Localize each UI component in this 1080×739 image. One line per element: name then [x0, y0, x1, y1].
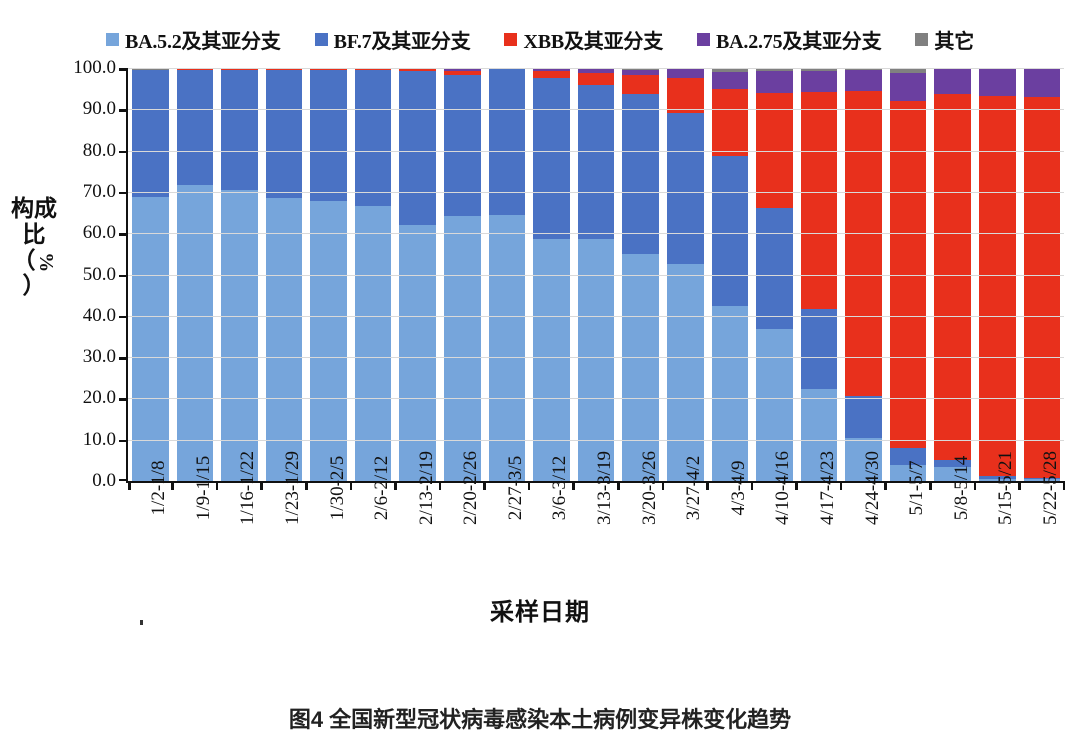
bar-segment	[399, 71, 436, 225]
y-axis-tick-label: 90.0	[83, 98, 116, 120]
bar-segment	[845, 91, 882, 397]
x-axis-tick-label: 2/20-2/26	[460, 451, 482, 525]
x-axis-tick-cell: 5/1-5/7	[884, 486, 929, 594]
bar-segment	[533, 78, 570, 239]
y-axis-tick-mark	[119, 398, 128, 401]
x-axis-tick-cell: 4/3-4/9	[706, 486, 751, 594]
bar-segment	[622, 94, 659, 253]
bar-segment	[444, 216, 481, 481]
bar-segment	[132, 70, 169, 196]
x-axis-tick-label: 3/27-4/2	[683, 456, 705, 520]
x-axis-tick-label: 4/10-4/16	[772, 451, 794, 525]
gridline	[128, 109, 1064, 110]
bar-segment	[132, 197, 169, 481]
gridline	[128, 398, 1064, 399]
y-axis-tick-mark	[119, 151, 128, 154]
x-axis-tick-label: 4/17-4/23	[817, 451, 839, 525]
bar-segment	[578, 85, 615, 239]
x-axis-tick-label: 2/27-3/5	[505, 456, 527, 520]
x-axis-tick-cell: 5/8-5/14	[928, 486, 973, 594]
gridline	[128, 68, 1064, 69]
x-axis-tick-cell: 3/6-3/12	[527, 486, 572, 594]
bar-segment	[667, 113, 704, 263]
y-axis-tick-mark	[119, 440, 128, 443]
bar-segment	[667, 78, 704, 114]
x-axis-tick-cell: 2/27-3/5	[483, 486, 528, 594]
bar-segment	[667, 69, 704, 77]
x-axis-tick-cell: 2/20-2/26	[438, 486, 483, 594]
bar-segment	[756, 71, 793, 92]
gridline	[128, 275, 1064, 276]
y-axis-tick-mark	[119, 357, 128, 360]
y-axis-tick-mark	[119, 109, 128, 112]
x-axis-tick-label: 2/13-2/19	[416, 451, 438, 525]
bar-segment	[801, 92, 838, 309]
x-axis-tick-label: 5/8-5/14	[951, 456, 973, 520]
bar-segment	[622, 254, 659, 481]
x-axis-tick-label: 5/15-5/21	[995, 451, 1017, 525]
y-axis-tick-label: 80.0	[83, 140, 116, 162]
bar-segment	[533, 239, 570, 481]
bar-segment	[355, 70, 392, 205]
x-axis-tick-label: 1/16-1/22	[237, 451, 259, 525]
plot-canvas	[126, 68, 1064, 483]
gridline	[128, 151, 1064, 152]
bar-segment	[667, 264, 704, 481]
x-axis-tick-cell: 3/20-3/26	[616, 486, 661, 594]
x-axis-tick-cell: 1/23-1/29	[260, 486, 305, 594]
bar-segment	[266, 70, 303, 198]
y-axis-tick-label: 100.0	[73, 57, 116, 79]
x-axis-tick-cell: 5/15-5/21	[973, 486, 1018, 594]
bar-segment	[310, 70, 347, 201]
x-axis-tick-label: 3/6-3/12	[549, 456, 571, 520]
x-axis-tick-label: 1/30-2/5	[327, 456, 349, 520]
y-axis-tick-label: 20.0	[83, 387, 116, 409]
y-axis-tick-label: 50.0	[83, 264, 116, 286]
bar-segment	[489, 215, 526, 481]
y-axis-tick-label: 40.0	[83, 305, 116, 327]
x-axis-tick-labels: 1/2-1/81/9-1/151/16-1/221/23-1/291/30-2/…	[126, 486, 1062, 594]
x-axis-tick-cell: 3/27-4/2	[661, 486, 706, 594]
x-axis-tick-label: 3/13-3/19	[594, 451, 616, 525]
x-axis-tick-cell: 4/24-4/30	[839, 486, 884, 594]
y-axis-tick-label: 0.0	[92, 470, 116, 492]
chart-plot-area: 0.010.020.030.040.050.060.070.080.090.01…	[0, 0, 1080, 739]
x-axis-tick-label: 1/2-1/8	[148, 461, 170, 516]
x-axis-tick-cell: 1/16-1/22	[215, 486, 260, 594]
x-axis-tick-cell: 1/9-1/15	[171, 486, 216, 594]
y-axis-tick-labels: 0.010.020.030.040.050.060.070.080.090.01…	[58, 58, 122, 488]
bar-segment	[712, 72, 749, 89]
bar-segment	[533, 71, 570, 78]
x-axis-tick-cell: 2/13-2/19	[393, 486, 438, 594]
bar-segment	[177, 185, 214, 481]
bar-segment	[399, 225, 436, 481]
y-axis-tick-mark	[119, 479, 128, 482]
x-axis-tick-label: 4/24-4/30	[862, 451, 884, 525]
y-axis-tick-mark	[119, 233, 128, 236]
x-axis-tick-cell: 5/22-5/28	[1018, 486, 1063, 594]
x-axis-tick-cell: 3/13-3/19	[572, 486, 617, 594]
gridline	[128, 233, 1064, 234]
y-axis-tick-mark	[119, 192, 128, 195]
x-axis-tick-label: 1/23-1/29	[282, 451, 304, 525]
bar-segment	[1024, 97, 1061, 478]
x-axis-tick-label: 3/20-3/26	[639, 451, 661, 525]
x-axis-tick-cell: 2/6-2/12	[349, 486, 394, 594]
x-axis-tick-label: 5/1-5/7	[906, 461, 928, 516]
bar-segment	[890, 73, 927, 100]
x-axis-tick-cell: 4/10-4/16	[750, 486, 795, 594]
bar-segment	[845, 70, 882, 91]
x-axis-tick-label: 2/6-2/12	[371, 456, 393, 520]
y-axis-tick-label: 10.0	[83, 429, 116, 451]
bar-segment	[266, 198, 303, 481]
x-axis-tick-label: 1/9-1/15	[193, 456, 215, 520]
bar-segment	[444, 75, 481, 216]
bar-segment	[845, 396, 882, 437]
bar-segment	[578, 73, 615, 85]
bar-segment	[979, 69, 1016, 96]
gridline	[128, 192, 1064, 193]
bar-segment	[801, 309, 838, 389]
bar-segment	[221, 70, 258, 190]
x-axis-tick-cell: 1/30-2/5	[304, 486, 349, 594]
figure-caption: 图4 全国新型冠状病毒感染本土病例变异株变化趋势	[0, 702, 1080, 734]
bar-segment	[934, 69, 971, 94]
y-axis-tick-mark	[119, 275, 128, 278]
x-axis-tick-label: 4/3-4/9	[728, 461, 750, 516]
x-axis-tick-cell: 4/17-4/23	[795, 486, 840, 594]
bar-segment	[712, 306, 749, 481]
y-axis-tick-mark	[119, 316, 128, 319]
bar-segment	[934, 94, 971, 461]
x-axis-tick-cell: 1/2-1/8	[126, 486, 171, 594]
bar-segment	[712, 156, 749, 306]
bar-segment	[756, 208, 793, 329]
gridline	[128, 357, 1064, 358]
gridline	[128, 316, 1064, 317]
x-axis-tick-mark	[1063, 481, 1066, 490]
y-axis-tick-label: 30.0	[83, 346, 116, 368]
bar-segment	[979, 96, 1016, 476]
x-axis-tick-label: 5/22-5/28	[1040, 451, 1062, 525]
x-axis-title: 采样日期	[0, 592, 1080, 627]
bar-segment	[801, 71, 838, 92]
y-axis-tick-label: 70.0	[83, 181, 116, 203]
bar-segment	[622, 75, 659, 94]
gridline	[128, 440, 1064, 441]
y-axis-tick-label: 60.0	[83, 222, 116, 244]
bar-segment	[712, 89, 749, 156]
y-axis-tick-mark	[119, 68, 128, 71]
bar-segment	[177, 70, 214, 186]
bar-segment	[1024, 69, 1061, 97]
